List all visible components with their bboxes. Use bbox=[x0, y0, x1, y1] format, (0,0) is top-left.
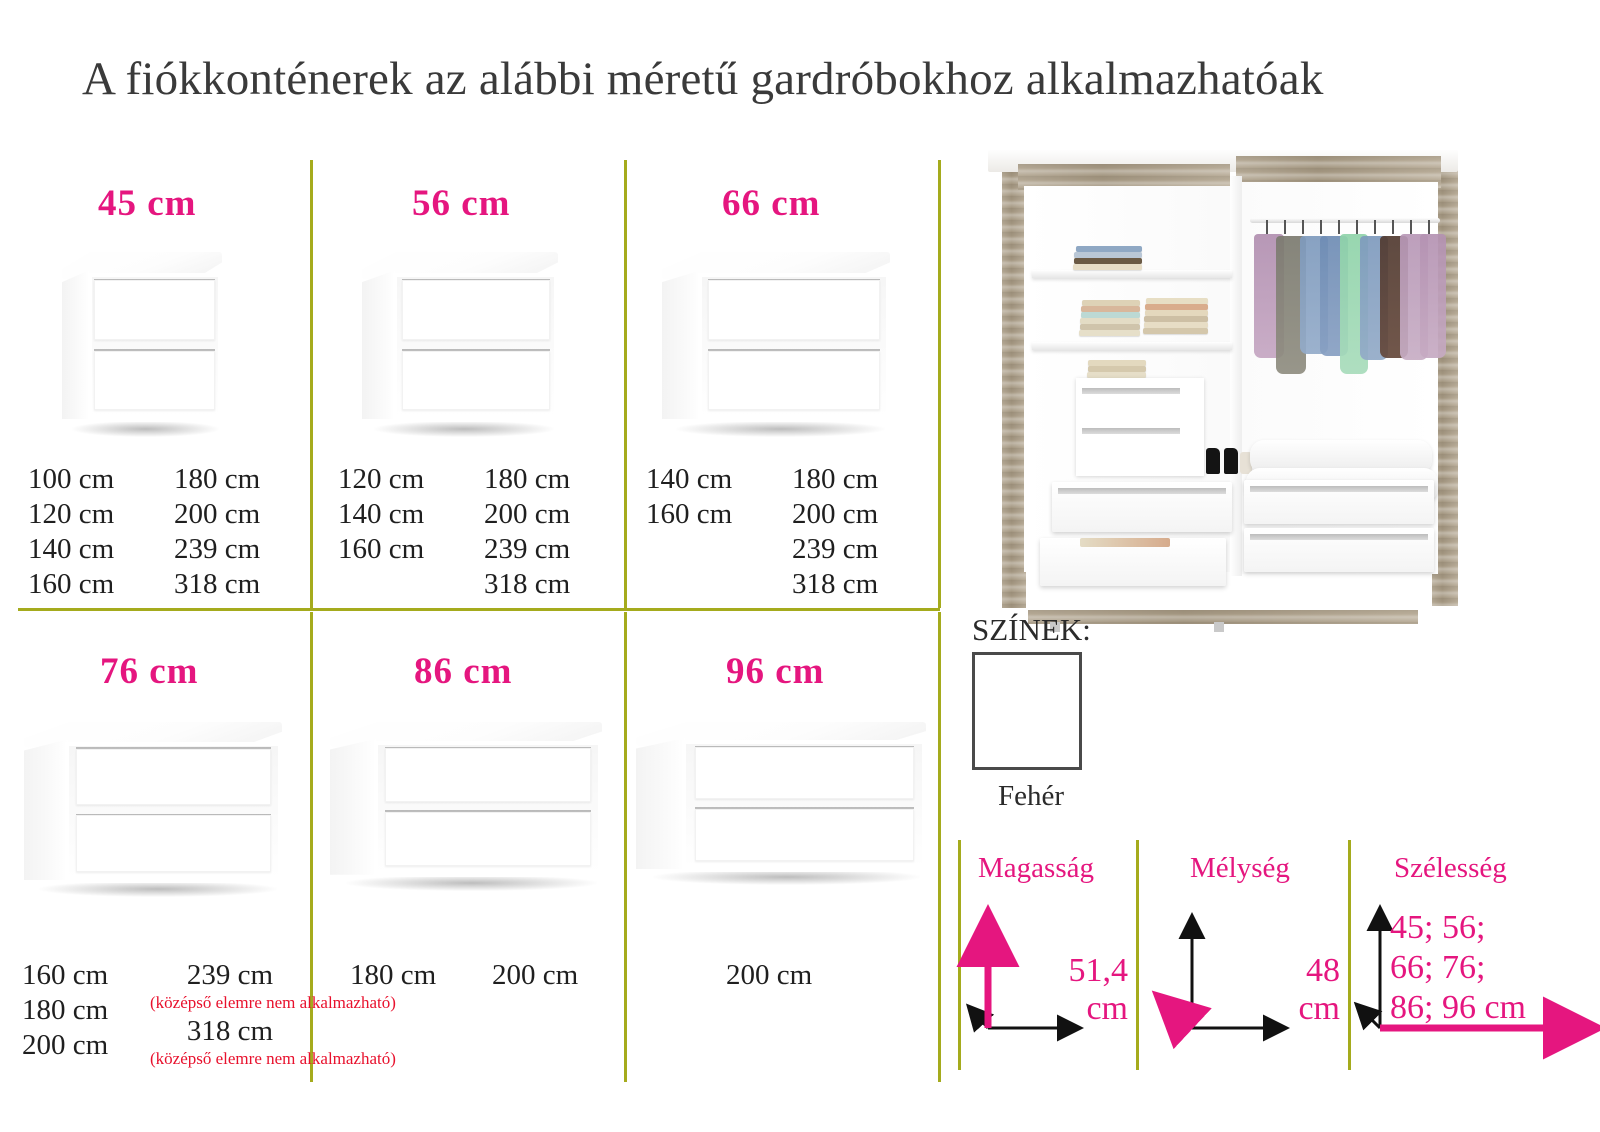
axis-value-line: 48 bbox=[1232, 952, 1340, 990]
dimension-value: 160 cm bbox=[646, 497, 732, 532]
dimension-value: 100 cm bbox=[28, 462, 114, 497]
axis-value-line: 66; 76; bbox=[1390, 948, 1596, 988]
cabinet-front bbox=[698, 273, 890, 422]
dimension-value: 180 cm bbox=[22, 993, 108, 1028]
dimension-list-66-left: 140 cm 160 cm bbox=[646, 462, 732, 532]
grid-rule-horizontal-middle bbox=[18, 608, 940, 611]
cabinet-drawer-lower bbox=[94, 351, 215, 411]
hanger-hook-icon bbox=[1392, 220, 1394, 234]
dimension-list-45-left: 100 cm 120 cm 140 cm 160 cm bbox=[28, 462, 114, 602]
cabinet-drawer-upper bbox=[76, 749, 271, 805]
grid-rule-vertical-3 bbox=[938, 160, 941, 608]
axis-value-width: 45; 56; 66; 76; 86; 96 cm bbox=[1390, 908, 1596, 1028]
hanger-hook-icon bbox=[1284, 220, 1286, 234]
folded-linen bbox=[1143, 328, 1208, 334]
cabinet-side-panel bbox=[62, 270, 89, 419]
cabinet-front bbox=[682, 740, 926, 871]
cabinet-front bbox=[393, 273, 558, 422]
dimension-value: 318 cm bbox=[792, 567, 878, 602]
drawer-cabinet-66 bbox=[662, 252, 890, 434]
size-header-56: 56 cm bbox=[412, 182, 511, 225]
cabinet-drawer-lower bbox=[695, 809, 914, 861]
cabinet-front bbox=[88, 273, 222, 422]
drawer-cabinet-86 bbox=[330, 722, 602, 888]
axis-value-line: cm bbox=[1020, 990, 1128, 1028]
cabinet-drawer-lower bbox=[708, 351, 880, 411]
wardrobe-shelf-middle bbox=[1032, 342, 1232, 350]
hanging-garment bbox=[1420, 234, 1446, 358]
shoe-right bbox=[1224, 448, 1238, 474]
cabinet-shadow bbox=[374, 421, 554, 437]
hanger-hook-icon bbox=[1356, 220, 1358, 234]
cabinet-shadow bbox=[39, 881, 276, 897]
wardrobe-foot bbox=[1214, 622, 1224, 632]
dimension-value: 140 cm bbox=[338, 497, 424, 532]
dimension-list-45-right: 180 cm 200 cm 239 cm 318 cm bbox=[174, 462, 260, 602]
dimension-value: 200 cm bbox=[484, 497, 570, 532]
shoe-left bbox=[1206, 448, 1220, 474]
dimension-value: 180 cm bbox=[350, 958, 436, 993]
hanger-hook-icon bbox=[1266, 220, 1268, 234]
wardrobe-shelf-upper bbox=[1032, 270, 1232, 278]
cabinet-side-panel bbox=[636, 738, 685, 869]
axis-value-line: 86; 96 cm bbox=[1390, 988, 1596, 1028]
size-header-86: 86 cm bbox=[414, 650, 513, 693]
cabinet-shadow bbox=[72, 421, 219, 437]
dimension-value: 200 cm bbox=[174, 497, 260, 532]
dimension-list-76-right: 239 cm (középső elemre nem alkalmazható)… bbox=[150, 958, 310, 1068]
axis-value-line: cm bbox=[1232, 990, 1340, 1028]
hanger-hook-icon bbox=[1302, 220, 1304, 234]
open-drawer-contents bbox=[1080, 538, 1170, 547]
folded-linen bbox=[1079, 330, 1140, 336]
wardrobe-drawer-gap bbox=[1250, 486, 1428, 492]
dimension-value: 239 cm bbox=[150, 958, 310, 993]
cabinet-drawer-upper bbox=[695, 747, 914, 799]
dimension-note: (középső elemre nem alkalmazható) bbox=[150, 1049, 310, 1068]
dimension-value: 239 cm bbox=[484, 532, 570, 567]
size-header-96: 96 cm bbox=[726, 650, 825, 693]
dimension-list-86-right: 200 cm bbox=[492, 958, 578, 993]
hanger-hook-icon bbox=[1410, 220, 1412, 234]
cabinet-drawer-upper bbox=[708, 280, 880, 340]
wardrobe-side-panel-left bbox=[1002, 160, 1026, 608]
cabinet-side-panel bbox=[662, 270, 701, 419]
grid-rule-vertical-1 bbox=[310, 160, 313, 608]
dimension-value: 239 cm bbox=[174, 532, 260, 567]
cabinet-side-panel bbox=[330, 739, 376, 875]
size-header-76: 76 cm bbox=[100, 650, 199, 693]
dimension-value: 120 cm bbox=[28, 497, 114, 532]
cabinet-side-panel bbox=[24, 739, 68, 880]
dimension-value: 160 cm bbox=[22, 958, 108, 993]
dimension-list-96-left: 200 cm bbox=[726, 958, 812, 993]
cabinet-front bbox=[374, 741, 602, 877]
axis-value-height: 51,4 cm bbox=[1020, 952, 1128, 1028]
dimension-value: 140 cm bbox=[646, 462, 732, 497]
grid-rule-vertical-5 bbox=[624, 612, 627, 1082]
axis-panel-depth: Mélység 48 cm bbox=[1136, 840, 1348, 1070]
dimension-value: 200 cm bbox=[792, 497, 878, 532]
dimension-value: 200 cm bbox=[22, 1028, 108, 1063]
page-title: A fiókkonténerek az alábbi méretű gardró… bbox=[82, 52, 1532, 114]
dimension-value: 180 cm bbox=[174, 462, 260, 497]
dimension-value: 200 cm bbox=[492, 958, 578, 993]
grid-rule-vertical-2 bbox=[624, 160, 627, 608]
dimension-value: 140 cm bbox=[28, 532, 114, 567]
dimension-value: 160 cm bbox=[338, 532, 424, 567]
dimension-list-66-right: 180 cm 200 cm 239 cm 318 cm bbox=[792, 462, 878, 602]
drawer-cabinet-76 bbox=[24, 722, 282, 894]
dimension-value: 318 cm bbox=[174, 567, 260, 602]
colors-section-label: SZÍNEK: bbox=[972, 612, 1091, 648]
cabinet-drawer-lower bbox=[76, 815, 271, 871]
cabinet-shadow bbox=[676, 421, 886, 437]
wardrobe-inner-drawer-gap bbox=[1082, 428, 1180, 434]
dimension-value: 180 cm bbox=[792, 462, 878, 497]
dimension-list-86-left: 180 cm bbox=[350, 958, 436, 993]
axis-value-line: 45; 56; bbox=[1390, 908, 1596, 948]
dimension-value: 318 cm bbox=[484, 567, 570, 602]
grid-rule-vertical-6 bbox=[938, 612, 941, 1082]
cabinet-drawer-upper bbox=[385, 748, 591, 802]
drawer-cabinet-45 bbox=[62, 252, 222, 434]
hanger-hook-icon bbox=[1428, 220, 1430, 234]
dimension-list-56-right: 180 cm 200 cm 239 cm 318 cm bbox=[484, 462, 570, 602]
dimension-list-56-left: 120 cm 140 cm 160 cm bbox=[338, 462, 424, 567]
wardrobe-interior-photo bbox=[988, 150, 1458, 618]
wardrobe-drawer-gap bbox=[1250, 534, 1428, 540]
dimension-value: 160 cm bbox=[28, 567, 114, 602]
dimension-list-76-left: 160 cm 180 cm 200 cm bbox=[22, 958, 108, 1063]
folded-linen bbox=[1073, 264, 1142, 270]
hanger-hook-icon bbox=[1374, 220, 1376, 234]
axis-panel-width: Szélesség 45; 56; 66; 76; 86; 96 cm bbox=[1348, 840, 1600, 1070]
wardrobe-inner-drawer-gap bbox=[1082, 388, 1180, 394]
cabinet-side-panel bbox=[362, 270, 395, 419]
dimension-value: 180 cm bbox=[484, 462, 570, 497]
axis-value-depth: 48 cm bbox=[1232, 952, 1340, 1028]
color-swatch-label: Fehér bbox=[998, 780, 1064, 813]
size-header-45: 45 cm bbox=[98, 182, 197, 225]
wardrobe-drawer-gap bbox=[1058, 488, 1226, 494]
axis-panel-height: Magasság 51,4 cm bbox=[958, 840, 1136, 1070]
hanger-hook-icon bbox=[1338, 220, 1340, 234]
dimension-value: 120 cm bbox=[338, 462, 424, 497]
cabinet-drawer-upper bbox=[402, 280, 550, 340]
cabinet-shadow bbox=[346, 875, 596, 891]
hanger-hook-icon bbox=[1320, 220, 1322, 234]
dimension-value: 239 cm bbox=[792, 532, 878, 567]
dimension-value: 318 cm bbox=[150, 1014, 310, 1049]
drawer-cabinet-96 bbox=[636, 722, 926, 882]
drawer-cabinet-56 bbox=[362, 252, 558, 434]
size-header-66: 66 cm bbox=[722, 182, 821, 225]
infographic-page: A fiókkonténerek az alábbi méretű gardró… bbox=[0, 0, 1600, 1132]
dimension-value: 200 cm bbox=[726, 958, 812, 993]
axis-value-line: 51,4 bbox=[1020, 952, 1128, 990]
cabinet-front bbox=[65, 742, 282, 883]
cabinet-drawer-lower bbox=[385, 812, 591, 866]
dimension-note: (középső elemre nem alkalmazható) bbox=[150, 993, 310, 1012]
color-swatch-white[interactable] bbox=[972, 652, 1082, 770]
cabinet-drawer-lower bbox=[402, 351, 550, 411]
cabinet-drawer-upper bbox=[94, 280, 215, 340]
